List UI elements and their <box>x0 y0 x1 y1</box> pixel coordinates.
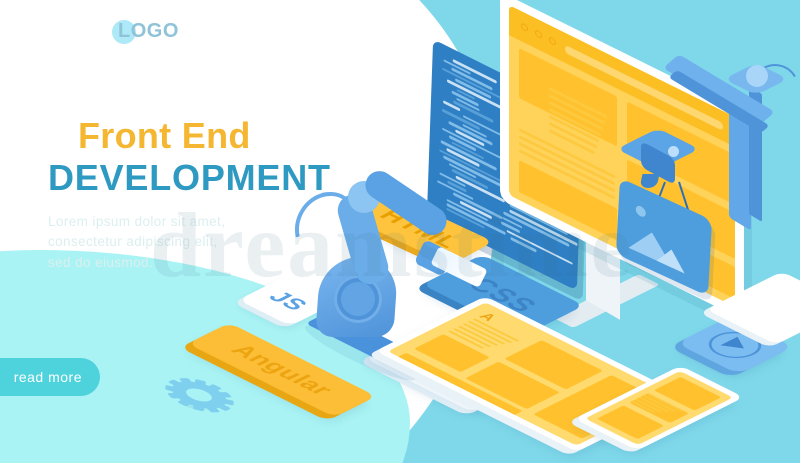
crane-hub <box>746 65 768 87</box>
robot-nozzle-tip <box>430 246 487 288</box>
gear-cog-icon <box>162 376 237 413</box>
crane-knob <box>668 146 679 157</box>
image-sun-icon <box>636 204 647 218</box>
code-line <box>507 229 573 265</box>
robot-disc-inner <box>341 282 375 316</box>
crane-hook-tip <box>640 174 660 188</box>
isometric-scene: A HTML CSS <box>0 0 800 463</box>
illustration-canvas: LOGO Front End DEVELOPMENT Lorem ipsum d… <box>0 0 800 463</box>
